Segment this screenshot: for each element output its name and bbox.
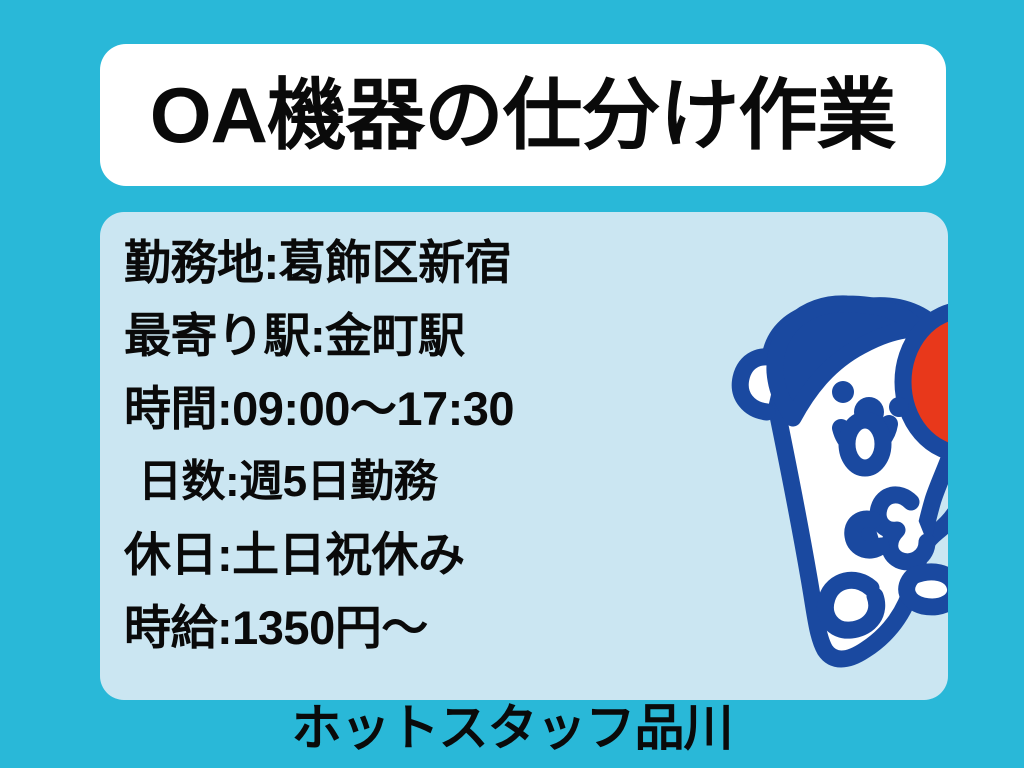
detail-days-off: 休日:土日祝休み bbox=[124, 518, 684, 591]
detail-working-hours: 時間:09:00〜17:30 bbox=[124, 372, 684, 445]
job-details-list: 勤務地:葛飾区新宿 最寄り駅:金町駅 時間:09:00〜17:30 日数:週5日… bbox=[124, 226, 684, 664]
detail-work-location: 勤務地:葛飾区新宿 bbox=[124, 226, 684, 299]
mascot-eye-right bbox=[889, 397, 909, 417]
company-name: ホットスタッフ品川 bbox=[0, 703, 1024, 753]
mascot-leg bbox=[825, 580, 876, 630]
detail-hourly-wage: 時給:1350円〜 bbox=[124, 591, 684, 664]
title-card: OA機器の仕分け作業 bbox=[100, 44, 946, 186]
job-poster: OA機器の仕分け作業 勤務地:葛飾区新宿 最寄り駅:金町駅 時間:09:00〜1… bbox=[0, 0, 1024, 768]
bear-mascot-icon bbox=[675, 232, 948, 692]
detail-nearest-station: 最寄り駅:金町駅 bbox=[124, 299, 684, 372]
mascot-mouth bbox=[847, 420, 883, 468]
job-details-panel: 勤務地:葛飾区新宿 最寄り駅:金町駅 時間:09:00〜17:30 日数:週5日… bbox=[100, 212, 948, 700]
mascot-foot bbox=[907, 572, 948, 607]
mascot-eye-left bbox=[832, 381, 854, 403]
page-title: OA機器の仕分け作業 bbox=[150, 76, 896, 154]
detail-work-days: 日数:週5日勤務 bbox=[124, 445, 684, 518]
mascot-paw-pad bbox=[853, 519, 881, 550]
